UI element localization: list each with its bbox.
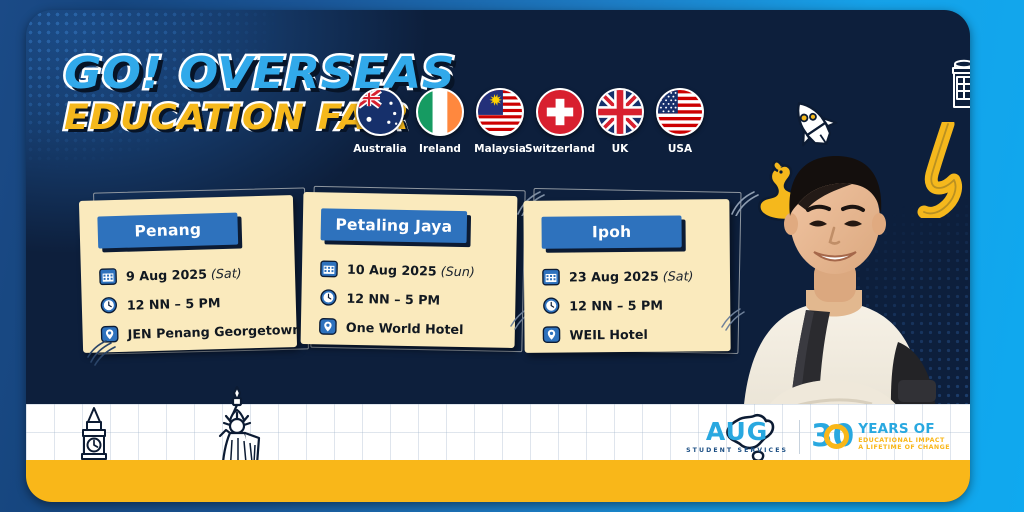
card-row-venue: JEN Penang Georgetown	[100, 320, 282, 343]
event-date: 9 Aug 2025	[126, 266, 207, 283]
event-time: 12 NN – 5 PM	[346, 290, 440, 307]
card-row-time: 12 NN – 5 PM	[542, 295, 716, 315]
anniversary-ring	[824, 424, 849, 449]
card-row-venue: WEIL Hotel	[542, 324, 716, 344]
card-row-venue: One World Hotel	[319, 317, 501, 338]
aug-logo[interactable]: AUG STUDENT SERVICES	[686, 419, 788, 454]
anniversary-line-1: EDUCATIONAL IMPACT	[858, 437, 950, 444]
city-badge: Ipoh	[541, 216, 681, 249]
flag-item-usa: USA	[650, 88, 710, 155]
anniversary-years: YEARS OF	[858, 422, 950, 437]
clock-icon	[319, 288, 337, 306]
anniversary-text: YEARS OF EDUCATIONAL IMPACT A LIFETIME O…	[858, 422, 950, 451]
event-venue: WEIL Hotel	[569, 326, 647, 342]
flag-label: Ireland	[419, 143, 461, 155]
calendar-icon	[320, 259, 338, 277]
card-body: Penang 9 Aug 2025 (Sat)	[79, 195, 297, 353]
flag-item-australia: Australia	[350, 88, 410, 155]
anniversary-line-2: A LIFETIME OF CHANGE	[858, 444, 950, 451]
card-detail-rows: 23 Aug 2025 (Sat) 12 NN – 5 PM	[542, 266, 717, 344]
student-photo	[702, 104, 962, 444]
flag-label: UK	[612, 143, 629, 155]
flag-label: Switzerland	[525, 143, 595, 155]
calendar-icon	[542, 268, 560, 286]
card-row-date: 9 Aug 2025 (Sat)	[99, 262, 281, 285]
event-venue: JEN Penang Georgetown	[127, 321, 301, 341]
flag-item-ireland: Ireland	[410, 88, 470, 155]
flag-item-uk: UK	[590, 88, 650, 155]
event-date: 10 Aug 2025	[347, 261, 437, 278]
flag-label: Australia	[353, 143, 406, 155]
city-badge: Penang	[97, 213, 238, 249]
card-body: Petaling Jaya 10 Aug 2025 (Sun)	[301, 192, 518, 348]
flag-item-malaysia: Malaysia	[470, 88, 530, 155]
telephone-booth-icon	[946, 58, 970, 110]
bottom-gold-strip	[26, 460, 970, 502]
aug-wordmark: AUG	[706, 419, 768, 444]
anniversary-logo: 30 YEARS OF EDUCATIONAL IMPACT A LIFETIM…	[811, 421, 950, 452]
card-row-time: 12 NN – 5 PM	[319, 288, 501, 309]
location-pin-icon	[100, 325, 118, 343]
card-detail-rows: 10 Aug 2025 (Sun) 12 NN – 5 PM	[319, 259, 502, 338]
flag-malaysia-icon	[476, 88, 524, 136]
location-pin-icon	[319, 317, 337, 335]
card-detail-rows: 9 Aug 2025 (Sat) 12 NN – 5 PM	[99, 262, 283, 343]
event-day: (Sun)	[441, 263, 475, 279]
clock-icon	[542, 297, 560, 315]
flag-switzerland-icon	[536, 88, 584, 136]
aug-tagline: STUDENT SERVICES	[686, 447, 788, 454]
event-time: 12 NN – 5 PM	[569, 297, 663, 313]
flag-item-switzerland: Switzerland	[530, 88, 590, 155]
event-date: 23 Aug 2025	[569, 268, 659, 284]
banner-canvas: GO! OVERSEAS EDUCATION FAIR Aus	[0, 0, 1024, 512]
card-row-date: 23 Aug 2025 (Sat)	[542, 266, 716, 286]
event-time: 12 NN – 5 PM	[127, 295, 221, 313]
event-day: (Sat)	[211, 265, 242, 281]
country-flag-list: Australia Ireland	[350, 88, 710, 155]
event-card-list: Penang 9 Aug 2025 (Sat)	[81, 178, 721, 368]
card-row-date: 10 Aug 2025 (Sun)	[320, 259, 502, 280]
flag-usa-icon	[656, 88, 704, 136]
flag-label: Malaysia	[474, 143, 526, 155]
anniversary-number-wrap: 30	[811, 421, 854, 452]
calendar-icon	[99, 267, 117, 285]
event-day: (Sat)	[663, 268, 694, 283]
flag-label: USA	[668, 143, 692, 155]
location-pin-icon	[542, 326, 560, 344]
city-badge: Petaling Jaya	[321, 208, 468, 243]
flag-ireland-icon	[416, 88, 464, 136]
event-venue: One World Hotel	[346, 319, 464, 336]
banner-panel: GO! OVERSEAS EDUCATION FAIR Aus	[26, 10, 970, 502]
flag-australia-icon	[356, 88, 404, 136]
footer-logos: AUG STUDENT SERVICES 30 YEARS OF EDUCATI…	[686, 419, 950, 454]
card-body: Ipoh 23 Aug 2025 (Sat)	[523, 199, 730, 353]
clock-icon	[100, 296, 118, 314]
logo-divider	[799, 420, 800, 454]
card-row-time: 12 NN – 5 PM	[100, 291, 282, 314]
flag-uk-icon	[596, 88, 644, 136]
